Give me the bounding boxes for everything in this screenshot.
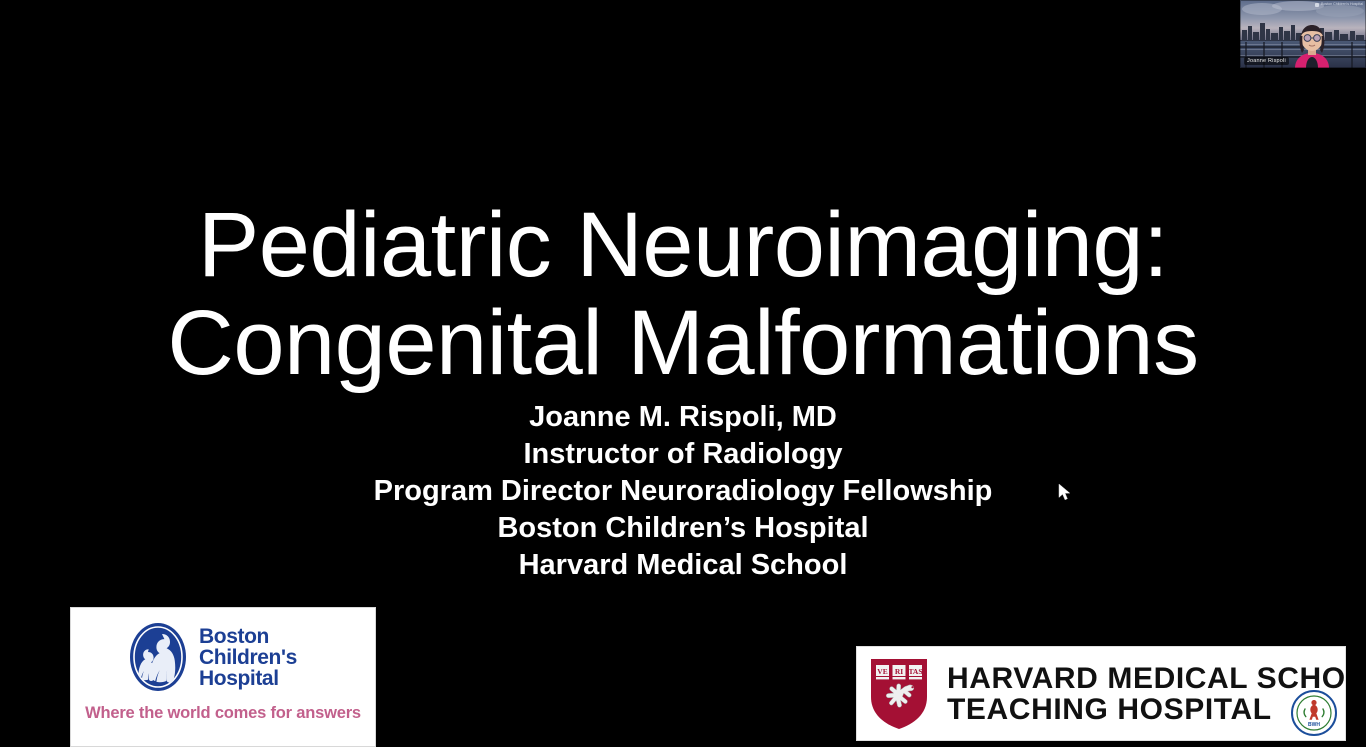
slide-title-line-2: Congenital Malformations <box>110 294 1256 392</box>
slide-title: Pediatric Neuroimaging: Congenital Malfo… <box>0 196 1366 393</box>
slide-subtitle: Joanne M. Rispoli, MD Instructor of Radi… <box>0 399 1366 584</box>
bch-word-hospital: Hospital <box>199 668 297 689</box>
harvard-wordmark: HARVARD MEDICAL SCHOOL TEACHING HOSPITAL <box>947 663 1346 725</box>
bch-word-boston: Boston <box>199 626 297 647</box>
watermark-mark-icon <box>1315 3 1319 7</box>
svg-text:TAS: TAS <box>908 667 922 676</box>
presenter-webcam-tile[interactable]: Boston Children's Hospital Joanne Rispol… <box>1240 0 1366 68</box>
harvard-medical-school-logo: VE RI TAS HARVARD MEDICAL SCHOOL TEACHIN… <box>856 646 1346 741</box>
subtitle-line-role: Program Director Neuroradiology Fellowsh… <box>0 473 1366 510</box>
boston-childrens-hospital-logo: Boston Children's Hospital Where the wor… <box>70 607 376 747</box>
slide-title-line-1: Pediatric Neuroimaging: <box>110 196 1256 294</box>
subtitle-line-title: Instructor of Radiology <box>0 436 1366 473</box>
svg-text:VE: VE <box>877 667 887 676</box>
subtitle-line-presenter-name: Joanne M. Rispoli, MD <box>0 399 1366 436</box>
presentation-slide: Pediatric Neuroimaging: Congenital Malfo… <box>0 0 1366 741</box>
boston-childrens-seal-icon <box>129 622 187 692</box>
harvard-shield-icon: VE RI TAS <box>869 657 929 731</box>
harvard-line-1: HARVARD MEDICAL SCHOOL <box>947 663 1346 694</box>
subtitle-line-school: Harvard Medical School <box>0 547 1366 584</box>
webcam-name-tag: Joanne Rispoli <box>1244 57 1289 65</box>
bch-tagline: Where the world comes for answers <box>71 704 375 723</box>
circular-institutional-seal-icon: BWH <box>1291 690 1337 736</box>
webcam-watermark-label: Boston Children's Hospital <box>1321 2 1363 7</box>
webcam-watermark: Boston Children's Hospital <box>1315 2 1363 7</box>
bch-logo-lockup: Boston Children's Hospital <box>71 608 375 692</box>
subtitle-line-institution: Boston Children’s Hospital <box>0 510 1366 547</box>
svg-text:RI: RI <box>895 667 903 676</box>
bch-word-childrens: Children's <box>199 647 297 668</box>
bch-wordmark: Boston Children's Hospital <box>199 626 297 689</box>
harvard-line-2: TEACHING HOSPITAL <box>947 694 1346 725</box>
svg-text:BWH: BWH <box>1308 722 1320 728</box>
